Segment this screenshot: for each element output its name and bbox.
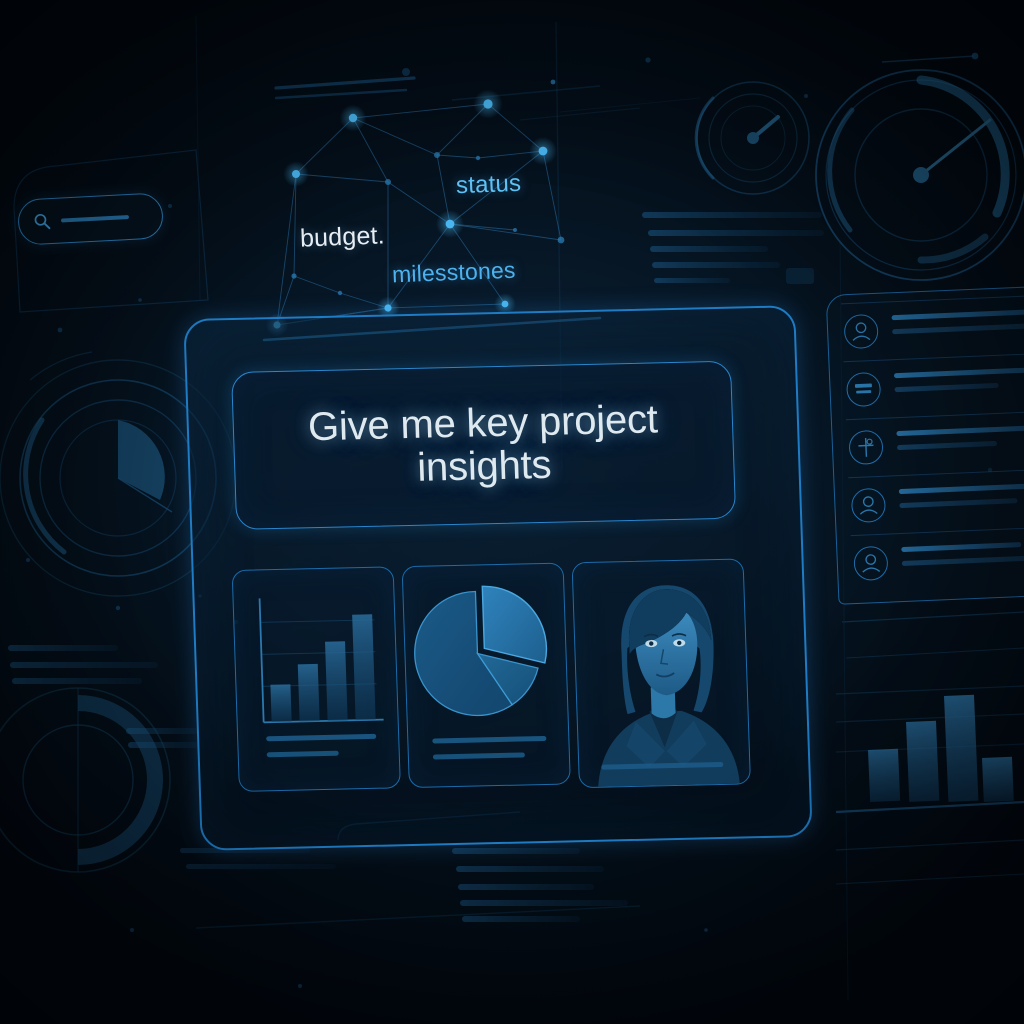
user-avatar-icon bbox=[853, 546, 888, 581]
search-field[interactable] bbox=[17, 192, 164, 246]
list-item-text bbox=[894, 367, 1024, 402]
top-right-text-block bbox=[642, 212, 824, 284]
list-item[interactable] bbox=[853, 532, 1024, 599]
person-portrait bbox=[573, 559, 751, 788]
search-input-placeholder[interactable] bbox=[61, 215, 129, 223]
user-avatar-icon bbox=[851, 488, 886, 523]
graph-label-milestones: milesstones bbox=[392, 257, 517, 289]
bar-chart bbox=[233, 567, 401, 792]
list-item-text bbox=[901, 540, 1024, 575]
pie-chart-card[interactable] bbox=[402, 563, 571, 789]
user-avatar-icon bbox=[843, 314, 878, 349]
list-item-text bbox=[892, 309, 1024, 344]
assistant-display-panel[interactable]: Give me key project insights bbox=[183, 305, 813, 851]
bar-chart-card[interactable] bbox=[232, 566, 401, 792]
prompt-text[interactable]: Give me key project insights bbox=[233, 397, 734, 494]
mid-left-text-block bbox=[8, 645, 198, 748]
graph-label-budget: budget. bbox=[299, 221, 385, 253]
knowledge-graph-nodes bbox=[265, 80, 564, 337]
bottom-left-donut bbox=[0, 688, 170, 872]
search-icon bbox=[33, 212, 52, 231]
id-badge-icon bbox=[846, 372, 881, 407]
prompt-input[interactable]: Give me key project insights bbox=[231, 361, 736, 530]
list-item-text bbox=[896, 424, 1024, 459]
scene-root: budget. status milesstones Give me key p… bbox=[0, 0, 1024, 1024]
knowledge-graph-edges bbox=[277, 104, 561, 325]
list-item-text bbox=[899, 482, 1024, 517]
bottom-text-block bbox=[180, 848, 640, 928]
gauge-small bbox=[696, 82, 809, 194]
team-list-panel[interactable] bbox=[826, 285, 1024, 604]
pie-chart bbox=[403, 563, 571, 788]
team-member-card[interactable] bbox=[572, 558, 751, 788]
gauge-large bbox=[816, 53, 1024, 280]
graph-label-status: status bbox=[455, 170, 521, 200]
lower-right-bar-chart bbox=[836, 684, 1024, 812]
person-pin-icon bbox=[848, 430, 883, 465]
